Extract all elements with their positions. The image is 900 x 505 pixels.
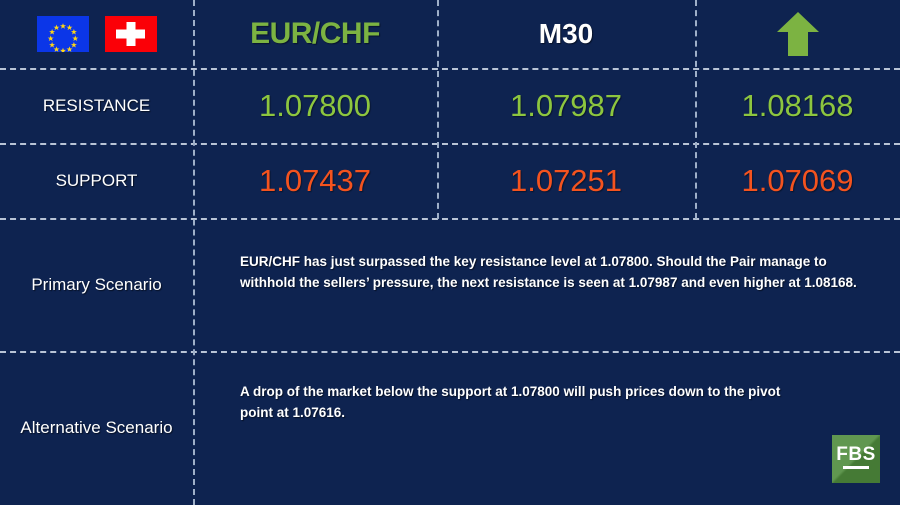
currency-pair: EUR/CHF: [193, 0, 437, 68]
divider-vertical-3: [695, 0, 697, 219]
divider-horizontal-1: [0, 68, 900, 70]
primary-scenario-label: Primary Scenario: [0, 218, 193, 351]
divider-horizontal-4: [0, 351, 900, 353]
forex-levels-panel: EUR/CHF M30 RESISTANCE 1.07800 1.07987 1…: [0, 0, 900, 505]
divider-vertical-2: [437, 0, 439, 219]
resistance-row-label: RESISTANCE: [0, 68, 193, 143]
timeframe-label: M30: [539, 18, 593, 50]
switzerland-flag-icon: [105, 16, 157, 52]
swiss-cross-horizontal: [116, 30, 144, 39]
primary-scenario-text: EUR/CHF has just surpassed the key resis…: [240, 252, 865, 294]
fbs-logo-underline: [843, 466, 869, 469]
fbs-logo-text: FBS: [832, 445, 880, 464]
support-value-1: 1.07437: [193, 143, 437, 218]
arrow-up-icon: [776, 11, 820, 57]
alternative-scenario-text: A drop of the market below the support a…: [240, 382, 800, 424]
divider-vertical-1: [193, 0, 195, 505]
divider-horizontal-3: [0, 218, 900, 220]
divider-horizontal-2: [0, 143, 900, 145]
eu-flag-icon: [37, 16, 89, 52]
fbs-logo: FBS: [832, 435, 880, 483]
support-value-3: 1.07069: [695, 143, 900, 218]
currency-flags: [0, 0, 193, 68]
resistance-value-3: 1.08168: [695, 68, 900, 143]
resistance-value-2: 1.07987: [437, 68, 695, 143]
timeframe: M30: [437, 0, 695, 68]
trend-indicator: [695, 0, 900, 68]
support-row-label: SUPPORT: [0, 143, 193, 218]
resistance-value-1: 1.07800: [193, 68, 437, 143]
support-value-2: 1.07251: [437, 143, 695, 218]
alternative-scenario-label: Alternative Scenario: [0, 351, 193, 505]
currency-pair-label: EUR/CHF: [250, 17, 380, 51]
